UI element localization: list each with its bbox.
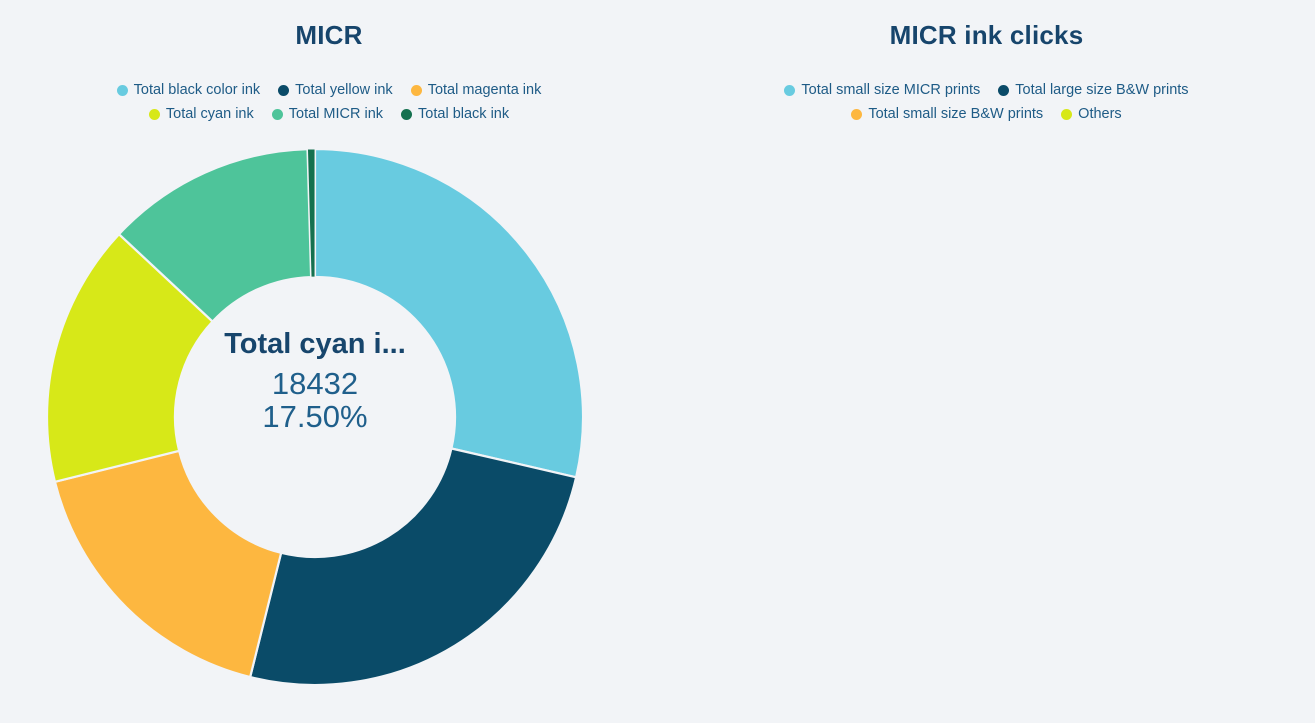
- donut-slice[interactable]: Total magenta ink: 18139 (17.22%): [55, 451, 281, 677]
- donut-center-percent: 17.50%: [175, 400, 455, 433]
- legend-item-label: Total MICR ink: [289, 102, 383, 126]
- legend-item-label: Total small size MICR prints: [801, 78, 980, 102]
- legend-swatch-icon: [278, 85, 289, 96]
- legend-item-label: Total black ink: [418, 102, 509, 126]
- legend-item-label: Total black color ink: [134, 78, 261, 102]
- legend-swatch-icon: [784, 85, 795, 96]
- legend-swatch-icon: [1061, 109, 1072, 120]
- page-title-micr: MICR: [0, 18, 658, 52]
- chart-panel-micr: MICR Total black color inkTotal yellow i…: [0, 0, 658, 723]
- legend-item-label: Total magenta ink: [428, 78, 542, 102]
- donut-center-value: 18432: [175, 367, 455, 400]
- donut-center-label-micr: Total cyan i... 18432 17.50%: [175, 330, 455, 433]
- legend-item[interactable]: Total yellow ink: [278, 78, 393, 102]
- legend-swatch-icon: [411, 85, 422, 96]
- legend-swatch-icon: [149, 109, 160, 120]
- legend-item[interactable]: Total MICR ink: [272, 102, 383, 126]
- legend-item[interactable]: Total large size B&W prints: [998, 78, 1188, 102]
- legend-item[interactable]: Total magenta ink: [411, 78, 542, 102]
- legend-item-label: Total yellow ink: [295, 78, 393, 102]
- legend-swatch-icon: [998, 85, 1009, 96]
- chart-panel-micr-ink-clicks: MICR ink clicks Total small size MICR pr…: [658, 0, 1315, 723]
- legend-item[interactable]: Total black ink: [401, 102, 509, 126]
- legend-swatch-icon: [272, 109, 283, 120]
- legend-swatch-icon: [851, 109, 862, 120]
- legend-item[interactable]: Total black color ink: [117, 78, 261, 102]
- donut-center-title: Total cyan i...: [175, 330, 455, 359]
- legend-swatch-icon: [401, 109, 412, 120]
- legend-item-label: Total small size B&W prints: [868, 102, 1043, 126]
- legend-item-label: Others: [1078, 102, 1122, 126]
- legend-item[interactable]: Total small size MICR prints: [784, 78, 980, 102]
- chart-legend-micr[interactable]: Total black color inkTotal yellow inkTot…: [0, 78, 658, 126]
- dashboard-canvas: MICR Total black color inkTotal yellow i…: [0, 0, 1315, 723]
- chart-legend-micr-ink-clicks[interactable]: Total small size MICR printsTotal large …: [658, 78, 1315, 126]
- donut-slice[interactable]: Total yellow ink: 26624 (25.28%): [250, 448, 576, 685]
- legend-swatch-icon: [117, 85, 128, 96]
- legend-item-label: Total cyan ink: [166, 102, 254, 126]
- page-title-micr-ink-clicks: MICR ink clicks: [658, 18, 1315, 52]
- legend-item[interactable]: Total cyan ink: [149, 102, 254, 126]
- legend-item-label: Total large size B&W prints: [1015, 78, 1188, 102]
- legend-item[interactable]: Others: [1061, 102, 1122, 126]
- legend-item[interactable]: Total small size B&W prints: [851, 102, 1043, 126]
